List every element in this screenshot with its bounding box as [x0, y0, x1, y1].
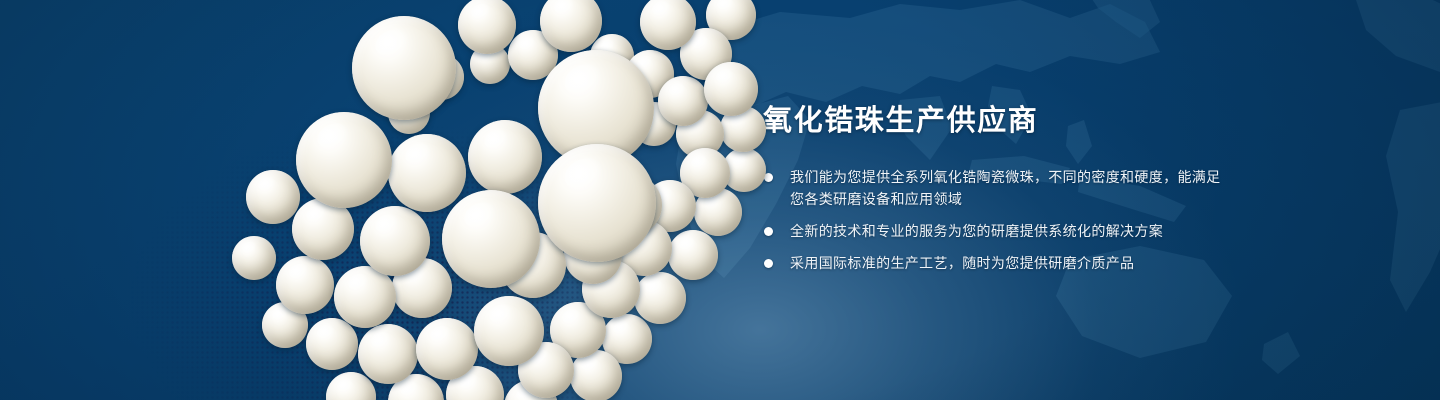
ceramic-bead [458, 0, 516, 54]
ceramic-bead [704, 62, 758, 116]
ceramic-bead [358, 324, 418, 384]
ceramic-bead [276, 256, 334, 314]
list-item: 我们能为您提供全系列氧化锆陶瓷微珠，不同的密度和硬度，能满足您各类研磨设备和应用… [763, 166, 1233, 211]
list-item: 全新的技术和专业的服务为您的研磨提供系统化的解决方案 [763, 220, 1233, 243]
bullet-dot-icon [764, 227, 773, 236]
list-item-label: 采用国际标准的生产工艺，随时为您提供研磨介质产品 [790, 255, 1134, 271]
ceramic-bead [658, 76, 708, 126]
zirconia-beads-photo [120, 0, 740, 400]
banner-copy: 氧化锆珠生产供应商 我们能为您提供全系列氧化锆陶瓷微珠，不同的密度和硬度，能满足… [763, 104, 1233, 274]
ceramic-bead [334, 266, 396, 328]
ceramic-bead [474, 296, 544, 366]
ceramic-bead [306, 318, 358, 370]
ceramic-bead [388, 134, 466, 212]
list-item-label: 我们能为您提供全系列氧化锆陶瓷微珠，不同的密度和硬度，能满足您各类研磨设备和应用… [790, 169, 1221, 208]
ceramic-bead [442, 190, 540, 288]
bullet-dot-icon [764, 259, 773, 268]
hero-banner: 氧化锆珠生产供应商 我们能为您提供全系列氧化锆陶瓷微珠，不同的密度和硬度，能满足… [0, 0, 1440, 400]
ceramic-bead [634, 272, 686, 324]
ceramic-bead [352, 16, 456, 120]
ceramic-bead [360, 206, 430, 276]
ceramic-bead [246, 170, 300, 224]
page-title: 氧化锆珠生产供应商 [763, 104, 1233, 139]
ceramic-bead [416, 318, 478, 380]
ceramic-bead [296, 112, 392, 208]
ceramic-bead [232, 236, 276, 280]
list-item: 采用国际标准的生产工艺，随时为您提供研磨介质产品 [763, 252, 1233, 275]
ceramic-bead [468, 120, 542, 194]
list-item-label: 全新的技术和专业的服务为您的研磨提供系统化的解决方案 [790, 223, 1163, 239]
ceramic-bead [538, 144, 656, 262]
feature-list: 我们能为您提供全系列氧化锆陶瓷微珠，不同的密度和硬度，能满足您各类研磨设备和应用… [763, 166, 1233, 275]
ceramic-bead [668, 230, 718, 280]
